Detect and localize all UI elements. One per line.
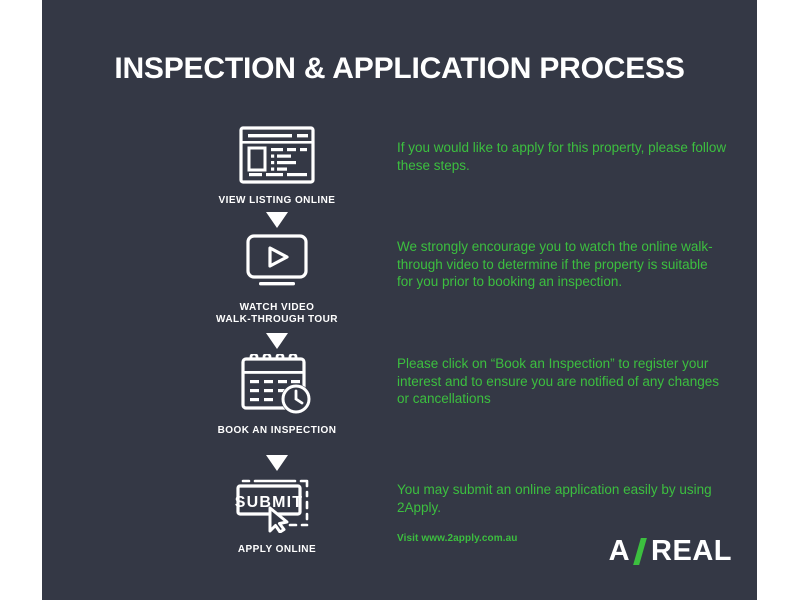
video-play-icon bbox=[162, 231, 392, 293]
areal-logo: A REAL bbox=[609, 535, 732, 568]
step-label-line-2: WALK-THROUGH TOUR bbox=[162, 314, 392, 326]
description-view-listing-online: If you would like to apply for this prop… bbox=[397, 139, 727, 174]
arrow-down-icon-2 bbox=[162, 333, 392, 349]
step-label-watch-video: WATCH VIDEO WALK-THROUGH TOUR bbox=[162, 302, 392, 326]
step-book-inspection: BOOK AN INSPECTION bbox=[162, 354, 392, 437]
logo-text-after: REAL bbox=[651, 535, 732, 568]
description-apply-online-text: You may submit an online application eas… bbox=[397, 481, 727, 516]
calendar-clock-icon bbox=[162, 354, 392, 416]
description-watch-video: We strongly encourage you to watch the o… bbox=[397, 238, 727, 291]
step-label-view-listing-online: VIEW LISTING ONLINE bbox=[162, 195, 392, 207]
step-watch-video: WATCH VIDEO WALK-THROUGH TOUR bbox=[162, 231, 392, 326]
step-label-book-inspection: BOOK AN INSPECTION bbox=[162, 425, 392, 437]
step-view-listing-online: VIEW LISTING ONLINE bbox=[162, 124, 392, 207]
infographic-panel: INSPECTION & APPLICATION PROCESS bbox=[42, 0, 757, 600]
description-book-inspection: Please click on “Book an Inspection” to … bbox=[397, 355, 727, 408]
step-label-line-1: WATCH VIDEO bbox=[162, 302, 392, 314]
step-label-apply-online: APPLY ONLINE bbox=[162, 544, 392, 556]
submit-cursor-icon: SUBMIT bbox=[162, 473, 392, 535]
logo-text-before: A bbox=[609, 535, 630, 568]
arrow-down-icon-1 bbox=[162, 212, 392, 228]
browser-listing-icon bbox=[162, 124, 392, 186]
page-title: INSPECTION & APPLICATION PROCESS bbox=[42, 52, 757, 86]
green-slash-icon bbox=[632, 538, 649, 565]
step-apply-online: SUBMIT APPLY ONLINE bbox=[162, 473, 392, 556]
arrow-down-icon-3 bbox=[162, 455, 392, 471]
